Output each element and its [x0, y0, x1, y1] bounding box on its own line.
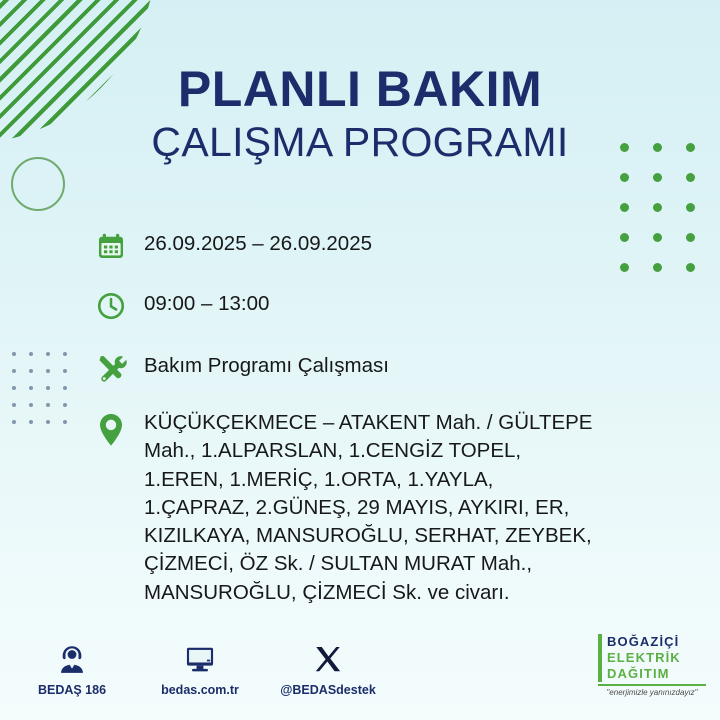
location-line: MANSUROĞLU, ÇİZMECİ Sk. ve civarı.	[144, 579, 592, 607]
location-line: KIZILKAYA, MANSUROĞLU, SERHAT, ZEYBEK,	[144, 522, 592, 550]
location-line: ÇİZMECİ, ÖZ Sk. / SULTAN MURAT Mah.,	[144, 550, 592, 578]
tools-icon	[96, 348, 144, 388]
location-line: KÜÇÜKÇEKMECE – ATAKENT Mah. / GÜLTEPE	[144, 409, 592, 437]
info-row-time: 09:00 – 13:00	[96, 286, 696, 326]
title-main: PLANLI BAKIM	[0, 64, 720, 115]
logo-underline	[598, 684, 706, 686]
contact-twitter[interactable]: @BEDASdestek	[286, 641, 370, 697]
contact-phone[interactable]: BEDAŞ 186	[30, 641, 114, 697]
work-type-text: Bakım Programı Çalışması	[144, 348, 389, 377]
logo-line-2: ELEKTRİK	[607, 650, 710, 666]
footer-contacts: BEDAŞ 186 bedas.com.tr @BEDASdestek	[30, 641, 370, 697]
dot-grid-left-decoration	[12, 352, 80, 437]
logo-tagline: "enerjimizle yanınızdayız"	[598, 688, 706, 697]
info-row-date: 26.09.2025 – 26.09.2025	[96, 226, 696, 266]
logo-line-3: DAĞITIM	[607, 666, 710, 682]
location-text: KÜÇÜKÇEKMECE – ATAKENT Mah. / GÜLTEPE Ma…	[144, 408, 592, 607]
page-title: PLANLI BAKIM ÇALIŞMA PROGRAMI	[0, 64, 720, 166]
contact-website-label: bedas.com.tr	[161, 683, 239, 697]
logo-line-1: BOĞAZİÇİ	[607, 634, 710, 650]
date-range-text: 26.09.2025 – 26.09.2025	[144, 226, 372, 255]
time-range-text: 09:00 – 13:00	[144, 286, 269, 315]
logo-accent-bar	[598, 634, 602, 682]
info-row-work-type: Bakım Programı Çalışması	[96, 348, 696, 388]
contact-twitter-label: @BEDASdestek	[280, 683, 376, 697]
x-twitter-icon	[313, 641, 343, 677]
location-line: Mah., 1.ALPARSLAN, 1.CENGİZ TOPEL,	[144, 437, 592, 465]
info-list: 26.09.2025 – 26.09.2025 09:00 – 13:00 Ba…	[96, 226, 696, 625]
info-row-location: KÜÇÜKÇEKMECE – ATAKENT Mah. / GÜLTEPE Ma…	[96, 408, 696, 607]
brand-logo: BOĞAZİÇİ ELEKTRİK DAĞITIM "enerjimizle y…	[598, 634, 710, 697]
title-subtitle: ÇALIŞMA PROGRAMI	[0, 119, 720, 166]
poster-canvas: PLANLI BAKIM ÇALIŞMA PROGRAMI 26	[0, 0, 720, 720]
clock-icon	[96, 286, 144, 326]
calendar-icon	[96, 226, 144, 266]
location-line: 1.ÇAPRAZ, 2.GÜNEŞ, 29 MAYIS, AYKIRI, ER,	[144, 494, 592, 522]
map-pin-icon	[96, 408, 144, 450]
monitor-icon	[184, 641, 216, 677]
contact-website[interactable]: bedas.com.tr	[158, 641, 242, 697]
contact-phone-label: BEDAŞ 186	[38, 683, 106, 697]
location-line: 1.EREN, 1.MERİÇ, 1.ORTA, 1.YAYLA,	[144, 466, 592, 494]
support-agent-icon	[56, 641, 88, 677]
